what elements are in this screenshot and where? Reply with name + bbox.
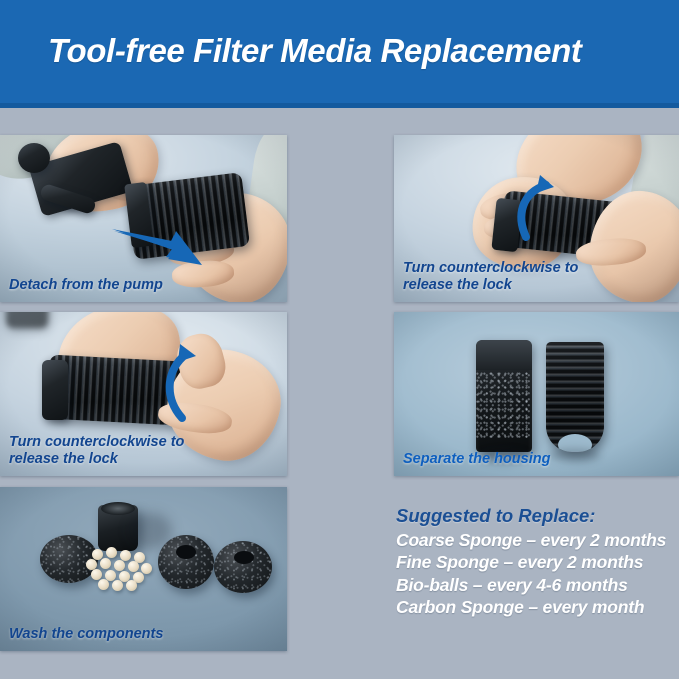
- step-panel-wash: Wash the components: [0, 487, 287, 651]
- step-caption-turn-bottom: Turn counterclockwise to release the loc…: [9, 434, 184, 468]
- step-panel-turn-bottom: Turn counterclockwise to release the loc…: [0, 312, 287, 476]
- fine-sponge-hole: [176, 545, 196, 559]
- rotation-arrow-icon: [152, 336, 218, 432]
- replacement-item-fine-sponge: Fine Sponge – every 2 months: [396, 551, 679, 573]
- photo-turn-counterclockwise-bottom: Turn counterclockwise to release the loc…: [0, 312, 287, 476]
- pump-knob: [18, 143, 50, 173]
- replacement-item-coarse-sponge: Coarse Sponge – every 2 months: [396, 529, 679, 551]
- step-panel-detach: Detach from the pump: [0, 135, 287, 302]
- step-panel-separate: Separate the housing: [394, 312, 679, 476]
- header-underline: [0, 103, 679, 108]
- blue-arrow-icon: [110, 225, 220, 271]
- background-pump-blur: [6, 312, 48, 328]
- fine-sponge: [158, 535, 214, 589]
- step-caption-separate: Separate the housing: [403, 451, 550, 468]
- step-caption-wash: Wash the components: [9, 626, 163, 643]
- step-caption-turn-top: Turn counterclockwise to release the loc…: [403, 260, 578, 294]
- replacement-item-bio-balls: Bio-balls – every 4-6 months: [396, 574, 679, 596]
- photo-detach-from-pump: Detach from the pump: [0, 135, 287, 302]
- bio-balls-cluster: [86, 547, 156, 589]
- cartridge-end-cap: [42, 360, 68, 420]
- housing-shell: [546, 342, 604, 452]
- shadow-housing: [550, 448, 600, 462]
- replacement-schedule-title: Suggested to Replace:: [396, 505, 679, 527]
- photo-turn-counterclockwise-top: Turn counterclockwise to release the loc…: [394, 135, 679, 302]
- sponge-media-cartridge: [476, 340, 532, 452]
- replacement-schedule: Suggested to Replace: Coarse Sponge – ev…: [396, 505, 679, 619]
- step-panel-turn-top: Turn counterclockwise to release the loc…: [394, 135, 679, 302]
- replacement-item-carbon-sponge: Carbon Sponge – every month: [396, 596, 679, 618]
- page-title: Tool-free Filter Media Replacement: [48, 32, 581, 70]
- carbon-sponge-hole: [234, 551, 254, 564]
- photo-wash-components: Wash the components: [0, 487, 287, 651]
- step-caption-detach: Detach from the pump: [9, 277, 163, 294]
- carbon-sponge: [214, 541, 272, 593]
- rotation-arrow-icon: [502, 171, 572, 251]
- photo-separate-housing: Separate the housing: [394, 312, 679, 476]
